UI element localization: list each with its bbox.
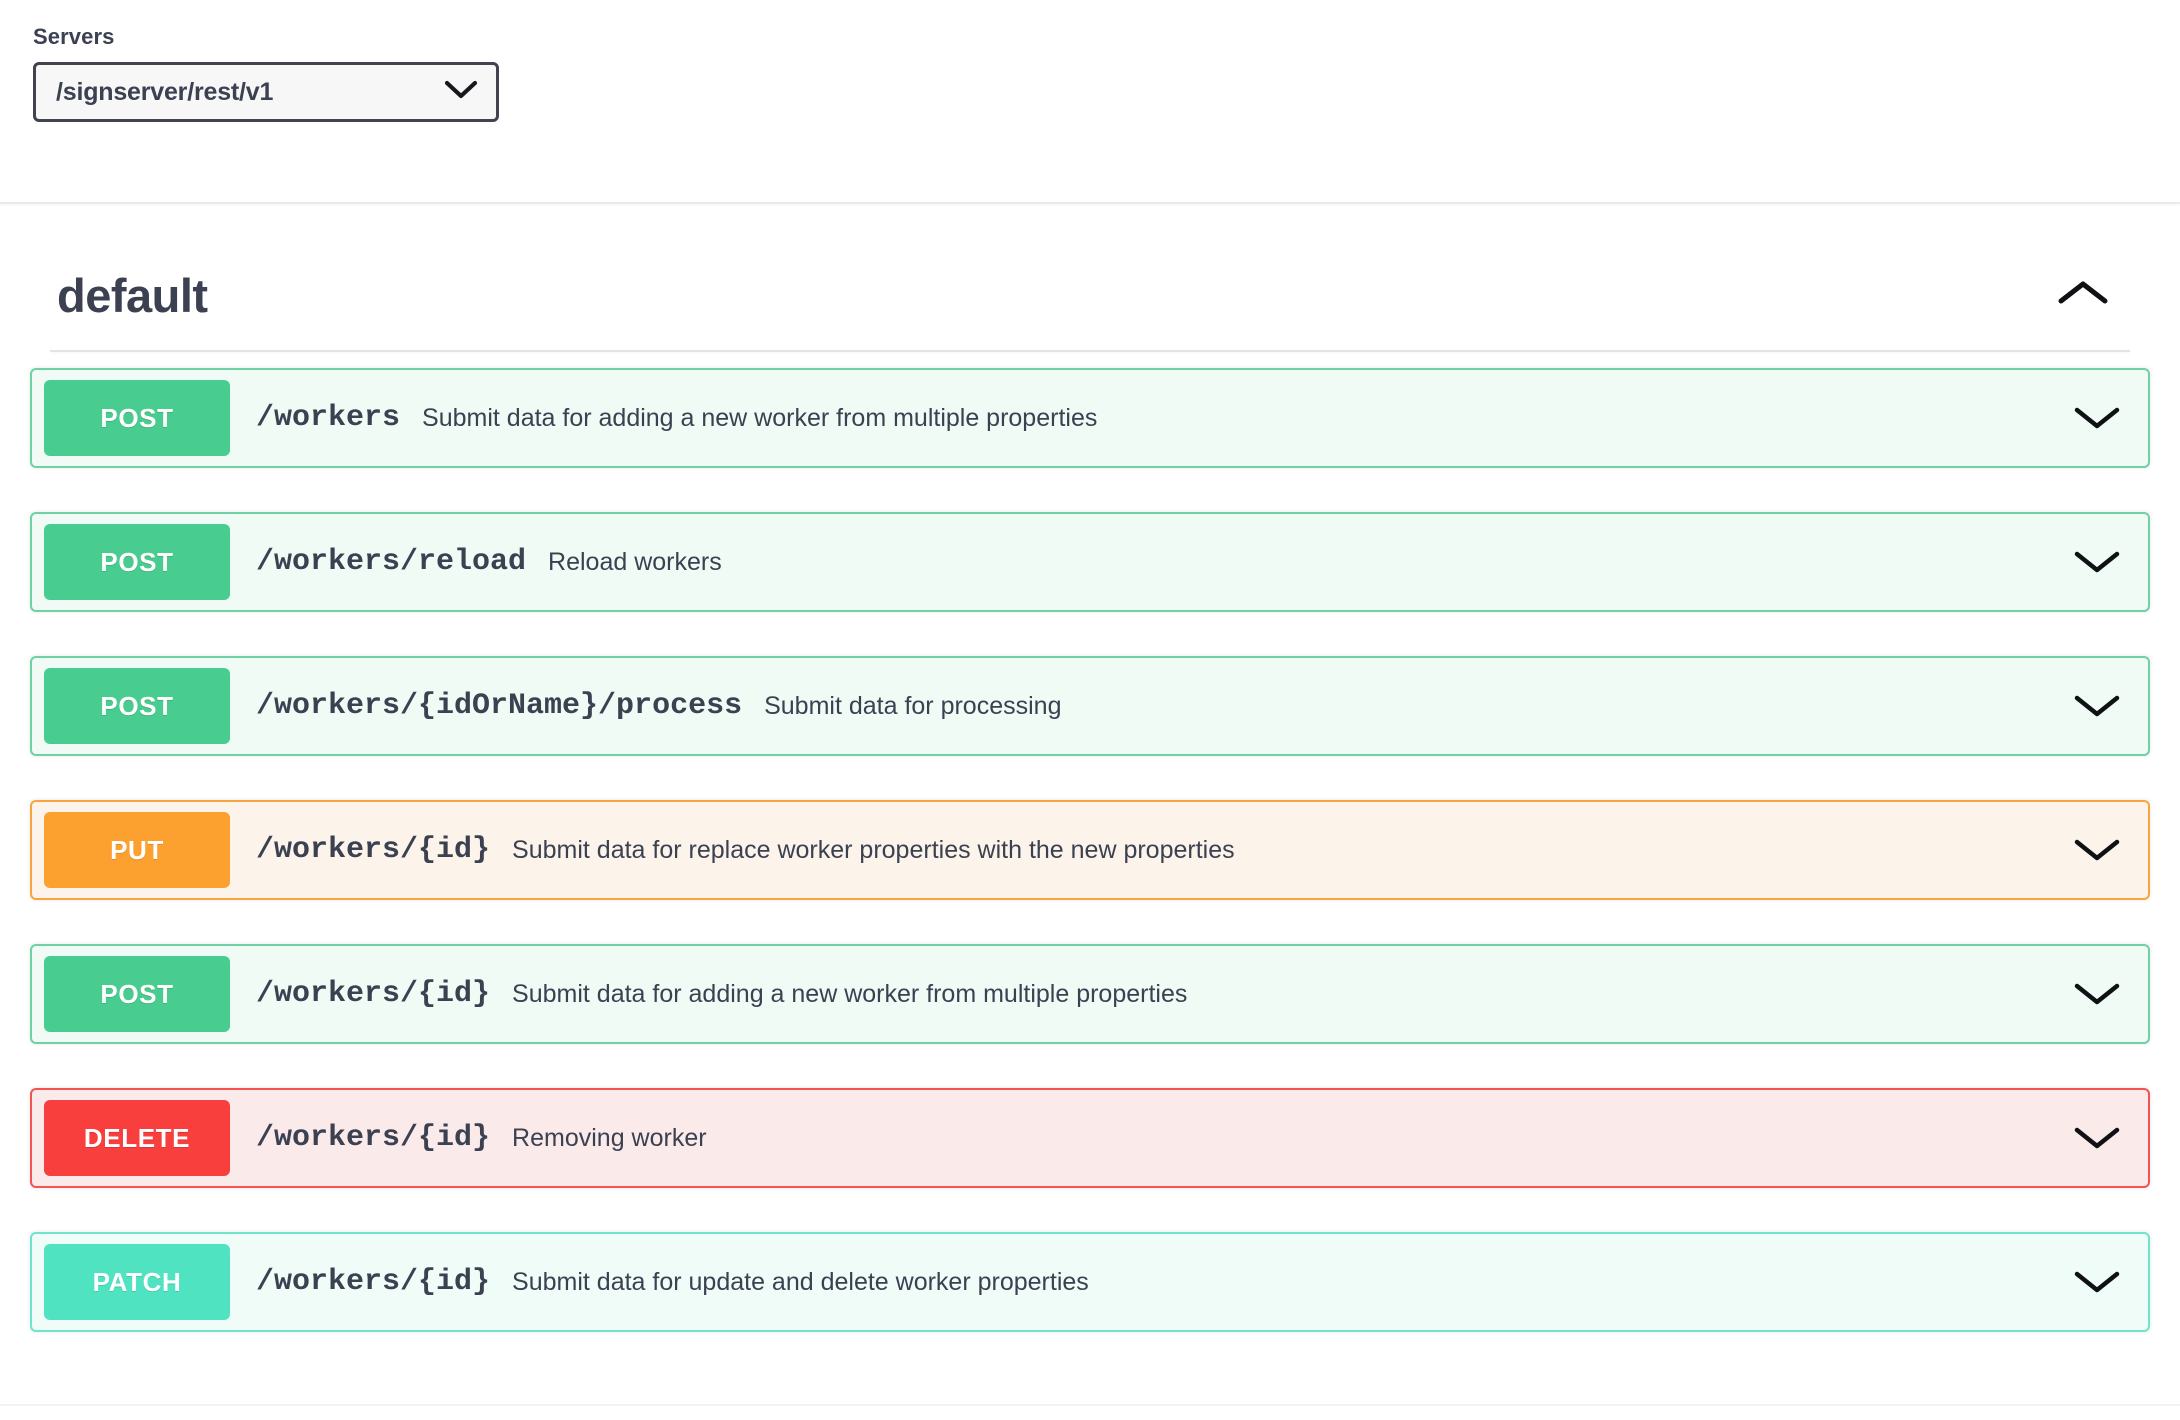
tag-title: default <box>57 268 208 323</box>
chevron-down-icon[interactable] <box>2072 979 2122 1009</box>
chevron-down-icon <box>444 79 478 106</box>
tag-header-default[interactable]: default <box>0 240 2180 350</box>
operation-row[interactable]: POST /workers Submit data for adding a n… <box>30 368 2150 468</box>
server-select[interactable]: /signserver/rest/v1 <box>33 62 499 122</box>
tag-divider <box>50 350 2130 352</box>
operation-path: /workers/{id} <box>256 1265 490 1299</box>
servers-block: Servers /signserver/rest/v1 <box>0 0 2180 122</box>
operation-path: /workers/{idOrName}/process <box>256 689 742 723</box>
operation-row[interactable]: POST /workers/{idOrName}/process Submit … <box>30 656 2150 756</box>
operation-path: /workers/{id} <box>256 833 490 867</box>
method-badge: POST <box>44 956 230 1032</box>
section-divider-top <box>0 202 2180 204</box>
operation-path: /workers/{id} <box>256 1121 490 1155</box>
operation-description: Submit data for adding a new worker from… <box>422 404 1097 433</box>
operation-row[interactable]: POST /workers/{id} Submit data for addin… <box>30 944 2150 1044</box>
operation-description: Reload workers <box>548 548 722 577</box>
method-badge: POST <box>44 524 230 600</box>
operation-path: /workers <box>256 401 400 435</box>
method-badge: POST <box>44 668 230 744</box>
server-select-value: /signserver/rest/v1 <box>56 78 273 107</box>
operation-row[interactable]: PATCH /workers/{id} Submit data for upda… <box>30 1232 2150 1332</box>
method-badge: DELETE <box>44 1100 230 1176</box>
method-badge: PUT <box>44 812 230 888</box>
method-badge: POST <box>44 380 230 456</box>
chevron-down-icon[interactable] <box>2072 1123 2122 1153</box>
operation-row[interactable]: DELETE /workers/{id} Removing worker <box>30 1088 2150 1188</box>
chevron-up-icon[interactable] <box>2056 277 2110 314</box>
operation-description: Submit data for update and delete worker… <box>512 1268 1089 1297</box>
operation-path: /workers/reload <box>256 545 526 579</box>
operation-row[interactable]: POST /workers/reload Reload workers <box>30 512 2150 612</box>
chevron-down-icon[interactable] <box>2072 691 2122 721</box>
operation-description: Submit data for processing <box>764 692 1061 721</box>
operation-description: Submit data for adding a new worker from… <box>512 980 1187 1009</box>
method-badge: PATCH <box>44 1244 230 1320</box>
operation-path: /workers/{id} <box>256 977 490 1011</box>
section-divider-bottom <box>0 1404 2180 1406</box>
tag-section-default: default POST /workers Submit data for ad… <box>0 240 2180 1332</box>
chevron-down-icon[interactable] <box>2072 1267 2122 1297</box>
operation-row[interactable]: PUT /workers/{id} Submit data for replac… <box>30 800 2150 900</box>
operation-description: Submit data for replace worker propertie… <box>512 836 1235 865</box>
chevron-down-icon[interactable] <box>2072 547 2122 577</box>
operation-description: Removing worker <box>512 1124 707 1153</box>
chevron-down-icon[interactable] <box>2072 403 2122 433</box>
chevron-down-icon[interactable] <box>2072 835 2122 865</box>
operations-list: POST /workers Submit data for adding a n… <box>0 368 2180 1332</box>
servers-label: Servers <box>33 24 2180 50</box>
